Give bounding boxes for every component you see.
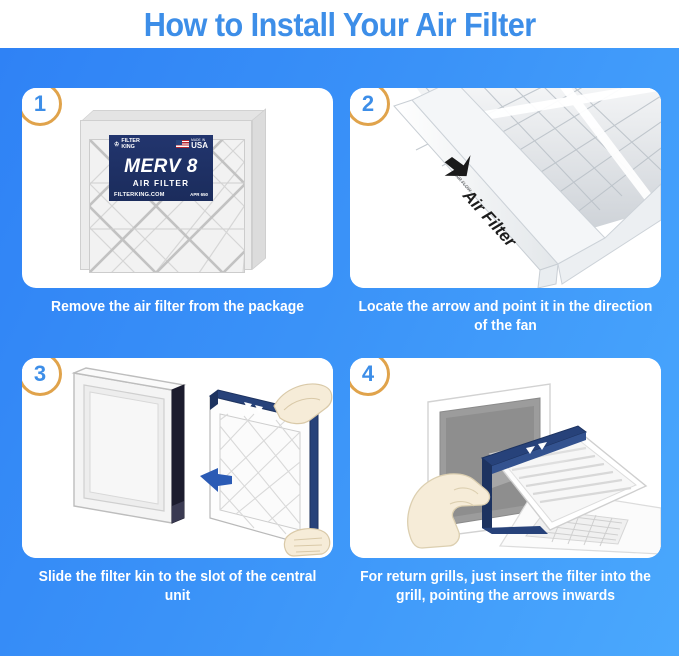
central-unit-housing xyxy=(74,368,184,523)
step-4-illustration xyxy=(350,358,661,558)
step-1-illustration: ♔ FILTER KING xyxy=(22,88,333,288)
step-1-card: 1 xyxy=(22,88,333,288)
infographic-page: How to Install Your Air Filter 1 xyxy=(0,0,679,656)
step-4-caption: For return grills, just insert the filte… xyxy=(356,568,655,606)
step-3-caption: Slide the filter kin to the slot of the … xyxy=(28,568,327,606)
product-label: ♔ FILTER KING xyxy=(109,135,213,201)
step-4-card: 4 xyxy=(350,358,661,558)
insert-filter-into-grill-drawing xyxy=(350,358,661,558)
step-1-caption: Remove the air filter from the package xyxy=(28,298,327,317)
hand-lower xyxy=(284,529,329,556)
step-2-card: 2 xyxy=(350,88,661,288)
filter-corner-photo: Air Filter AIR FLOW xyxy=(350,88,661,288)
brand-logo: ♔ FILTER KING xyxy=(114,139,140,150)
steps-grid: 1 xyxy=(0,48,679,656)
step-3: 3 xyxy=(22,358,333,606)
filter-box-front-face: ♔ FILTER KING xyxy=(80,120,252,270)
filter-box-side-face xyxy=(252,108,266,270)
filter-rating: APR 650 xyxy=(190,192,208,197)
step-2-caption: Locate the arrow and point it in the dir… xyxy=(356,298,655,336)
made-in-usa-mark: MADE IN USA xyxy=(176,139,208,150)
page-title: How to Install Your Air Filter xyxy=(144,8,536,41)
slide-filter-into-unit-drawing xyxy=(22,358,333,558)
usa-flag-icon xyxy=(176,140,189,148)
brand-line-2: KING xyxy=(121,144,134,150)
header-band: How to Install Your Air Filter xyxy=(0,0,679,48)
brand-website: FILTERKING.COM xyxy=(114,192,165,198)
step-2: 2 xyxy=(350,88,661,336)
step-1: 1 xyxy=(22,88,333,317)
crown-icon: ♔ xyxy=(114,142,119,148)
country-text: USA xyxy=(191,142,208,150)
step-4: 4 xyxy=(350,358,661,606)
step-3-card: 3 xyxy=(22,358,333,558)
step-3-illustration xyxy=(22,358,333,558)
step-2-illustration: Air Filter AIR FLOW xyxy=(350,88,661,288)
filter-type: AIR FILTER xyxy=(114,179,208,188)
filter-model: MERV 8 xyxy=(114,156,208,178)
